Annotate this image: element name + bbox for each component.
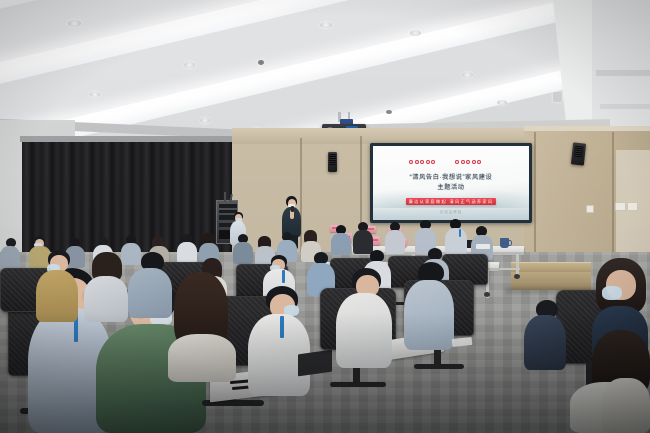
projection-screen: “清风告白·我想说”家风建设 主题活动 廉洁从家庭做起 清风正气涵养家风 纪检监… [370,143,532,223]
attendee-torso [524,315,566,370]
desk-leg-wheel [514,274,520,279]
attendee-torso [336,293,392,368]
attendee [330,225,352,255]
attendee [84,252,130,322]
attendee-torso [128,268,172,318]
attendee-torso [168,334,236,382]
attendee [36,250,80,322]
slide-headline-line2: 主题活动 [373,182,529,191]
attendee [524,300,568,370]
slide-banner-text: 廉洁从家庭做起 清风正气涵养家风 [409,199,494,205]
slide-content: “清风告白·我想说”家风建设 主题活动 廉洁从家庭做起 清风正气涵养家风 纪检监… [373,146,529,220]
attendee-foreground [602,378,650,433]
attendee [0,238,22,270]
attendee [176,234,198,264]
attendee-torso [602,378,650,433]
attendee-torso [36,270,78,322]
slide-headline-line1: “清风告白·我想说”家风建设 [373,172,529,181]
wall-outlet[interactable] [627,202,638,211]
wall-speaker-right [571,142,586,165]
desk-leg [516,254,519,276]
lanyard [280,316,284,338]
slide-decor-dots-left [409,160,435,164]
wall-outlet[interactable] [586,205,594,213]
attendee-torso [84,276,128,322]
microphone [291,206,294,212]
attendee [128,252,174,318]
attendee-torso [404,280,454,350]
front-wall-upper [232,128,562,144]
attendee [404,262,456,350]
wall-outlet[interactable] [615,202,626,211]
attendee [336,268,394,368]
conference-room-photo: “清风告白·我想说”家风建设 主题活动 廉洁从家庭做起 清风正气涵养家风 纪检监… [0,0,650,433]
paper-sheet [476,244,490,249]
slide-footer: 纪检监察组 [373,210,529,215]
slide-decor-dots-right [455,160,481,164]
wall-speaker-left [328,152,337,172]
rack-cables [224,192,226,202]
slide-banner: 廉洁从家庭做起 清风正气涵养家风 [406,198,496,205]
wall-trim [524,126,650,131]
attendee [248,286,312,396]
face-mask [602,286,622,300]
coffee-mug [500,238,509,248]
attendee-foreground [168,272,238,382]
attendee [232,234,254,264]
curtain-rail [20,136,234,142]
